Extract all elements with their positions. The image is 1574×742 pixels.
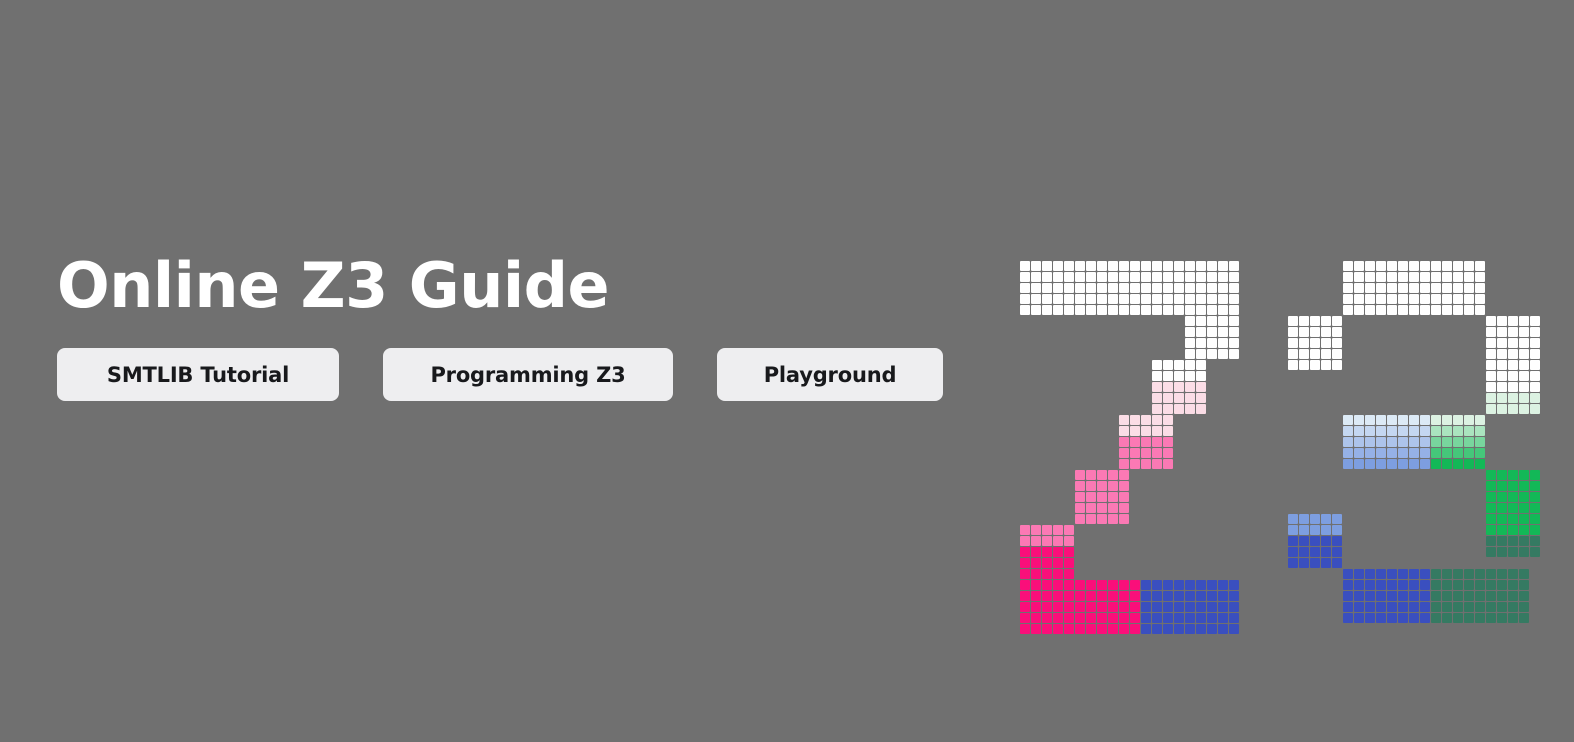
logo-pixel: [1053, 525, 1063, 535]
logo-pixel: [1365, 261, 1375, 271]
logo-pixel: [1508, 360, 1518, 370]
logo-pixel: [1020, 536, 1030, 546]
logo-pixel: [1119, 624, 1129, 634]
logo-pixel: [1119, 448, 1129, 458]
logo-pixel: [1475, 261, 1485, 271]
logo-pixel: [1530, 327, 1540, 337]
logo-pixel: [1141, 591, 1151, 601]
logo-pixel: [1229, 305, 1239, 315]
logo-pixel: [1431, 415, 1441, 425]
logo-pixel: [1508, 591, 1518, 601]
logo-pixel: [1332, 514, 1342, 524]
logo-pixel: [1464, 261, 1474, 271]
logo-pixel: [1086, 261, 1096, 271]
logo-pixel: [1453, 294, 1463, 304]
logo-pixel: [1321, 327, 1331, 337]
logo-pixel: [1108, 294, 1118, 304]
logo-pixel: [1464, 294, 1474, 304]
logo-pixel: [1174, 261, 1184, 271]
logo-pixel: [1398, 591, 1408, 601]
logo-pixel: [1508, 514, 1518, 524]
logo-pixel: [1431, 591, 1441, 601]
logo-pixel: [1075, 624, 1085, 634]
logo-pixel: [1376, 294, 1386, 304]
logo-pixel: [1119, 492, 1129, 502]
logo-pixel: [1442, 448, 1452, 458]
logo-pixel: [1376, 569, 1386, 579]
logo-pixel: [1420, 613, 1430, 623]
logo-pixel: [1442, 294, 1452, 304]
logo-pixel: [1464, 426, 1474, 436]
logo-pixel: [1464, 448, 1474, 458]
logo-pixel: [1508, 470, 1518, 480]
logo-pixel: [1310, 349, 1320, 359]
logo-pixel: [1108, 503, 1118, 513]
logo-pixel: [1343, 305, 1353, 315]
logo-pixel: [1141, 305, 1151, 315]
logo-pixel: [1196, 294, 1206, 304]
logo-pixel: [1431, 580, 1441, 590]
logo-pixel: [1398, 426, 1408, 436]
logo-pixel: [1086, 470, 1096, 480]
logo-pixel: [1152, 393, 1162, 403]
logo-pixel: [1398, 580, 1408, 590]
logo-pixel: [1086, 481, 1096, 491]
logo-pixel: [1097, 514, 1107, 524]
logo-pixel: [1075, 481, 1085, 491]
logo-pixel: [1174, 294, 1184, 304]
logo-pixel: [1108, 470, 1118, 480]
logo-pixel: [1453, 272, 1463, 282]
logo-pixel: [1475, 569, 1485, 579]
logo-pixel: [1398, 305, 1408, 315]
logo-pixel: [1354, 569, 1364, 579]
logo-pixel: [1321, 349, 1331, 359]
logo-pixel: [1332, 327, 1342, 337]
logo-pixel: [1343, 294, 1353, 304]
logo-pixel: [1196, 624, 1206, 634]
logo-pixel: [1354, 437, 1364, 447]
logo-pixel: [1354, 591, 1364, 601]
logo-pixel: [1321, 514, 1331, 524]
logo-pixel: [1086, 272, 1096, 282]
logo-pixel: [1207, 591, 1217, 601]
logo-pixel: [1398, 459, 1408, 469]
logo-pixel: [1119, 514, 1129, 524]
logo-pixel: [1530, 525, 1540, 535]
logo-pixel: [1530, 393, 1540, 403]
logo-pixel: [1486, 536, 1496, 546]
logo-pixel: [1409, 305, 1419, 315]
logo-pixel: [1387, 426, 1397, 436]
logo-pixel: [1387, 272, 1397, 282]
logo-pixel: [1152, 624, 1162, 634]
logo-pixel: [1453, 426, 1463, 436]
logo-pixel: [1343, 602, 1353, 612]
logo-pixel: [1464, 415, 1474, 425]
logo-pixel: [1398, 569, 1408, 579]
logo-pixel: [1185, 338, 1195, 348]
logo-pixel: [1020, 525, 1030, 535]
logo-pixel: [1497, 580, 1507, 590]
logo-pixel: [1042, 558, 1052, 568]
logo-pixel: [1365, 613, 1375, 623]
logo-pixel: [1508, 602, 1518, 612]
logo-pixel: [1130, 613, 1140, 623]
logo-pixel: [1497, 613, 1507, 623]
logo-pixel: [1508, 404, 1518, 414]
logo-pixel: [1075, 492, 1085, 502]
logo-pixel: [1530, 547, 1540, 557]
logo-pixel: [1152, 294, 1162, 304]
logo-pixel: [1185, 349, 1195, 359]
logo-pixel: [1097, 602, 1107, 612]
logo-pixel: [1497, 492, 1507, 502]
logo-pixel: [1497, 591, 1507, 601]
programming-z3-button[interactable]: Programming Z3: [383, 348, 673, 401]
logo-pixel: [1020, 272, 1030, 282]
logo-pixel: [1486, 404, 1496, 414]
logo-pixel: [1453, 591, 1463, 601]
logo-pixel: [1288, 327, 1298, 337]
logo-pixel: [1530, 470, 1540, 480]
logo-pixel: [1042, 591, 1052, 601]
logo-pixel: [1420, 602, 1430, 612]
logo-pixel: [1497, 393, 1507, 403]
logo-pixel: [1075, 591, 1085, 601]
logo-pixel: [1442, 580, 1452, 590]
logo-pixel: [1299, 547, 1309, 557]
logo-pixel: [1409, 580, 1419, 590]
logo-pixel: [1196, 591, 1206, 601]
logo-pixel: [1207, 580, 1217, 590]
logo-pixel: [1332, 316, 1342, 326]
logo-pixel: [1064, 591, 1074, 601]
logo-pixel: [1420, 569, 1430, 579]
logo-pixel: [1229, 283, 1239, 293]
logo-pixel: [1398, 294, 1408, 304]
logo-pixel: [1163, 426, 1173, 436]
logo-pixel: [1398, 283, 1408, 293]
logo-pixel: [1053, 591, 1063, 601]
logo-pixel: [1163, 272, 1173, 282]
logo-pixel: [1108, 514, 1118, 524]
logo-pixel: [1310, 558, 1320, 568]
logo-pixel: [1442, 602, 1452, 612]
playground-button[interactable]: Playground: [717, 348, 943, 401]
logo-pixel: [1020, 569, 1030, 579]
logo-pixel: [1163, 404, 1173, 414]
logo-pixel: [1174, 272, 1184, 282]
logo-pixel: [1409, 459, 1419, 469]
logo-pixel: [1398, 261, 1408, 271]
logo-pixel: [1530, 349, 1540, 359]
logo-pixel: [1064, 558, 1074, 568]
logo-pixel: [1229, 349, 1239, 359]
logo-pixel: [1354, 261, 1364, 271]
logo-pixel: [1519, 360, 1529, 370]
logo-pixel: [1020, 305, 1030, 315]
logo-pixel: [1196, 613, 1206, 623]
logo-pixel: [1354, 459, 1364, 469]
logo-pixel: [1442, 415, 1452, 425]
logo-pixel: [1486, 525, 1496, 535]
logo-pixel: [1152, 272, 1162, 282]
logo-pixel: [1376, 580, 1386, 590]
logo-pixel: [1365, 294, 1375, 304]
logo-pixel: [1229, 272, 1239, 282]
logo-pixel: [1196, 305, 1206, 315]
logo-pixel: [1365, 569, 1375, 579]
logo-pixel: [1042, 624, 1052, 634]
logo-pixel: [1196, 316, 1206, 326]
logo-pixel: [1486, 382, 1496, 392]
logo-pixel: [1196, 404, 1206, 414]
logo-pixel: [1453, 283, 1463, 293]
logo-pixel: [1365, 459, 1375, 469]
logo-pixel: [1053, 272, 1063, 282]
logo-pixel: [1299, 316, 1309, 326]
logo-pixel: [1376, 602, 1386, 612]
logo-pixel: [1442, 459, 1452, 469]
logo-pixel: [1064, 613, 1074, 623]
logo-pixel: [1075, 283, 1085, 293]
logo-pixel: [1409, 591, 1419, 601]
logo-pixel: [1453, 437, 1463, 447]
logo-pixel: [1163, 415, 1173, 425]
logo-pixel: [1508, 349, 1518, 359]
logo-pixel: [1508, 382, 1518, 392]
logo-pixel: [1152, 404, 1162, 414]
logo-pixel: [1475, 426, 1485, 436]
logo-pixel: [1288, 360, 1298, 370]
logo-pixel: [1497, 470, 1507, 480]
logo-pixel: [1530, 316, 1540, 326]
logo-pixel: [1299, 525, 1309, 535]
logo-pixel: [1229, 338, 1239, 348]
logo-pixel: [1508, 327, 1518, 337]
logo-pixel: [1365, 580, 1375, 590]
logo-pixel: [1064, 536, 1074, 546]
logo-pixel: [1387, 305, 1397, 315]
logo-pixel: [1207, 613, 1217, 623]
logo-pixel: [1497, 602, 1507, 612]
logo-pixel: [1288, 514, 1298, 524]
logo-pixel: [1486, 393, 1496, 403]
logo-pixel: [1530, 514, 1540, 524]
logo-pixel: [1064, 283, 1074, 293]
logo-pixel: [1420, 305, 1430, 315]
logo-pixel: [1464, 591, 1474, 601]
logo-pixel: [1508, 547, 1518, 557]
logo-pixel: [1442, 613, 1452, 623]
logo-pixel: [1354, 613, 1364, 623]
logo-pixel: [1042, 305, 1052, 315]
logo-pixel: [1475, 448, 1485, 458]
logo-pixel: [1409, 437, 1419, 447]
logo-pixel: [1365, 448, 1375, 458]
logo-pixel: [1097, 294, 1107, 304]
logo-pixel: [1141, 261, 1151, 271]
logo-pixel: [1020, 602, 1030, 612]
logo-pixel: [1288, 536, 1298, 546]
logo-pixel: [1310, 338, 1320, 348]
logo-pixel: [1453, 602, 1463, 612]
logo-pixel: [1207, 624, 1217, 634]
logo-pixel: [1064, 580, 1074, 590]
logo-pixel: [1185, 613, 1195, 623]
logo-pixel: [1486, 569, 1496, 579]
logo-pixel: [1229, 613, 1239, 623]
logo-pixel: [1141, 294, 1151, 304]
logo-pixel: [1431, 613, 1441, 623]
logo-pixel: [1464, 613, 1474, 623]
logo-pixel: [1152, 448, 1162, 458]
logo-pixel: [1519, 327, 1529, 337]
logo-pixel: [1475, 437, 1485, 447]
logo-pixel: [1141, 624, 1151, 634]
logo-pixel: [1152, 426, 1162, 436]
logo-pixel: [1196, 580, 1206, 590]
logo-pixel: [1130, 459, 1140, 469]
logo-pixel: [1288, 316, 1298, 326]
logo-pixel: [1064, 624, 1074, 634]
logo-pixel: [1086, 503, 1096, 513]
logo-pixel: [1288, 558, 1298, 568]
logo-pixel: [1420, 591, 1430, 601]
logo-pixel: [1497, 503, 1507, 513]
logo-pixel: [1486, 371, 1496, 381]
logo-pixel: [1530, 338, 1540, 348]
logo-pixel: [1075, 305, 1085, 315]
logo-pixel: [1508, 393, 1518, 403]
logo-pixel: [1174, 580, 1184, 590]
logo-pixel: [1409, 294, 1419, 304]
page-root: Online Z3 Guide SMTLIB Tutorial Programm…: [0, 0, 1574, 742]
logo-pixel: [1075, 261, 1085, 271]
logo-pixel: [1218, 261, 1228, 271]
logo-pixel: [1530, 536, 1540, 546]
logo-pixel: [1130, 305, 1140, 315]
logo-pixel: [1218, 624, 1228, 634]
logo-pixel: [1163, 305, 1173, 315]
logo-pixel: [1343, 415, 1353, 425]
logo-pixel: [1163, 624, 1173, 634]
logo-pixel: [1530, 382, 1540, 392]
logo-pixel: [1042, 525, 1052, 535]
logo-pixel: [1196, 261, 1206, 271]
logo-pixel: [1519, 393, 1529, 403]
logo-pixel: [1343, 426, 1353, 436]
logo-pixel: [1519, 569, 1529, 579]
logo-pixel: [1130, 437, 1140, 447]
logo-pixel: [1519, 536, 1529, 546]
logo-pixel: [1174, 360, 1184, 370]
logo-pixel: [1196, 283, 1206, 293]
logo-pixel: [1530, 503, 1540, 513]
logo-pixel: [1163, 591, 1173, 601]
logo-pixel: [1229, 327, 1239, 337]
logo-pixel: [1398, 613, 1408, 623]
logo-pixel: [1174, 371, 1184, 381]
logo-pixel: [1042, 569, 1052, 579]
logo-pixel: [1075, 503, 1085, 513]
logo-pixel: [1530, 481, 1540, 491]
logo-pixel: [1431, 305, 1441, 315]
logo-pixel: [1387, 459, 1397, 469]
logo-pixel: [1064, 525, 1074, 535]
logo-pixel: [1376, 591, 1386, 601]
logo-pixel: [1152, 382, 1162, 392]
logo-pixel: [1387, 415, 1397, 425]
logo-pixel: [1486, 338, 1496, 348]
logo-pixel: [1141, 613, 1151, 623]
smtlib-tutorial-button[interactable]: SMTLIB Tutorial: [57, 348, 339, 401]
logo-pixel: [1486, 503, 1496, 513]
logo-pixel: [1174, 393, 1184, 403]
logo-pixel: [1431, 569, 1441, 579]
logo-pixel: [1207, 272, 1217, 282]
logo-pixel: [1486, 481, 1496, 491]
logo-pixel: [1218, 327, 1228, 337]
logo-pixel: [1207, 349, 1217, 359]
logo-pixel: [1152, 283, 1162, 293]
logo-pixel: [1442, 305, 1452, 315]
logo-pixel: [1119, 415, 1129, 425]
logo-pixel: [1475, 602, 1485, 612]
logo-pixel: [1185, 305, 1195, 315]
logo-pixel: [1497, 371, 1507, 381]
logo-pixel: [1020, 261, 1030, 271]
logo-pixel: [1064, 602, 1074, 612]
logo-pixel: [1031, 613, 1041, 623]
logo-pixel: [1031, 591, 1041, 601]
logo-pixel: [1486, 470, 1496, 480]
hero-section: Online Z3 Guide SMTLIB Tutorial Programm…: [57, 255, 977, 401]
logo-pixel: [1343, 283, 1353, 293]
logo-pixel: [1185, 580, 1195, 590]
logo-pixel: [1409, 261, 1419, 271]
logo-pixel: [1519, 525, 1529, 535]
logo-pixel: [1130, 426, 1140, 436]
logo-pixel: [1409, 283, 1419, 293]
logo-pixel: [1409, 426, 1419, 436]
logo-pixel: [1196, 393, 1206, 403]
logo-pixel: [1152, 459, 1162, 469]
logo-pixel: [1321, 547, 1331, 557]
logo-pixel: [1354, 448, 1364, 458]
logo-pixel: [1042, 613, 1052, 623]
logo-pixel: [1519, 602, 1529, 612]
logo-pixel: [1229, 294, 1239, 304]
logo-pixel: [1185, 404, 1195, 414]
logo-pixel: [1398, 272, 1408, 282]
logo-pixel: [1031, 261, 1041, 271]
logo-pixel: [1185, 283, 1195, 293]
logo-pixel: [1497, 404, 1507, 414]
logo-pixel: [1141, 580, 1151, 590]
logo-pixel: [1229, 261, 1239, 271]
logo-pixel: [1064, 305, 1074, 315]
logo-pixel: [1475, 305, 1485, 315]
logo-pixel: [1130, 602, 1140, 612]
logo-pixel: [1519, 316, 1529, 326]
logo-pixel: [1486, 591, 1496, 601]
logo-pixel: [1185, 602, 1195, 612]
logo-pixel: [1508, 613, 1518, 623]
logo-pixel: [1486, 547, 1496, 557]
logo-pixel: [1431, 294, 1441, 304]
